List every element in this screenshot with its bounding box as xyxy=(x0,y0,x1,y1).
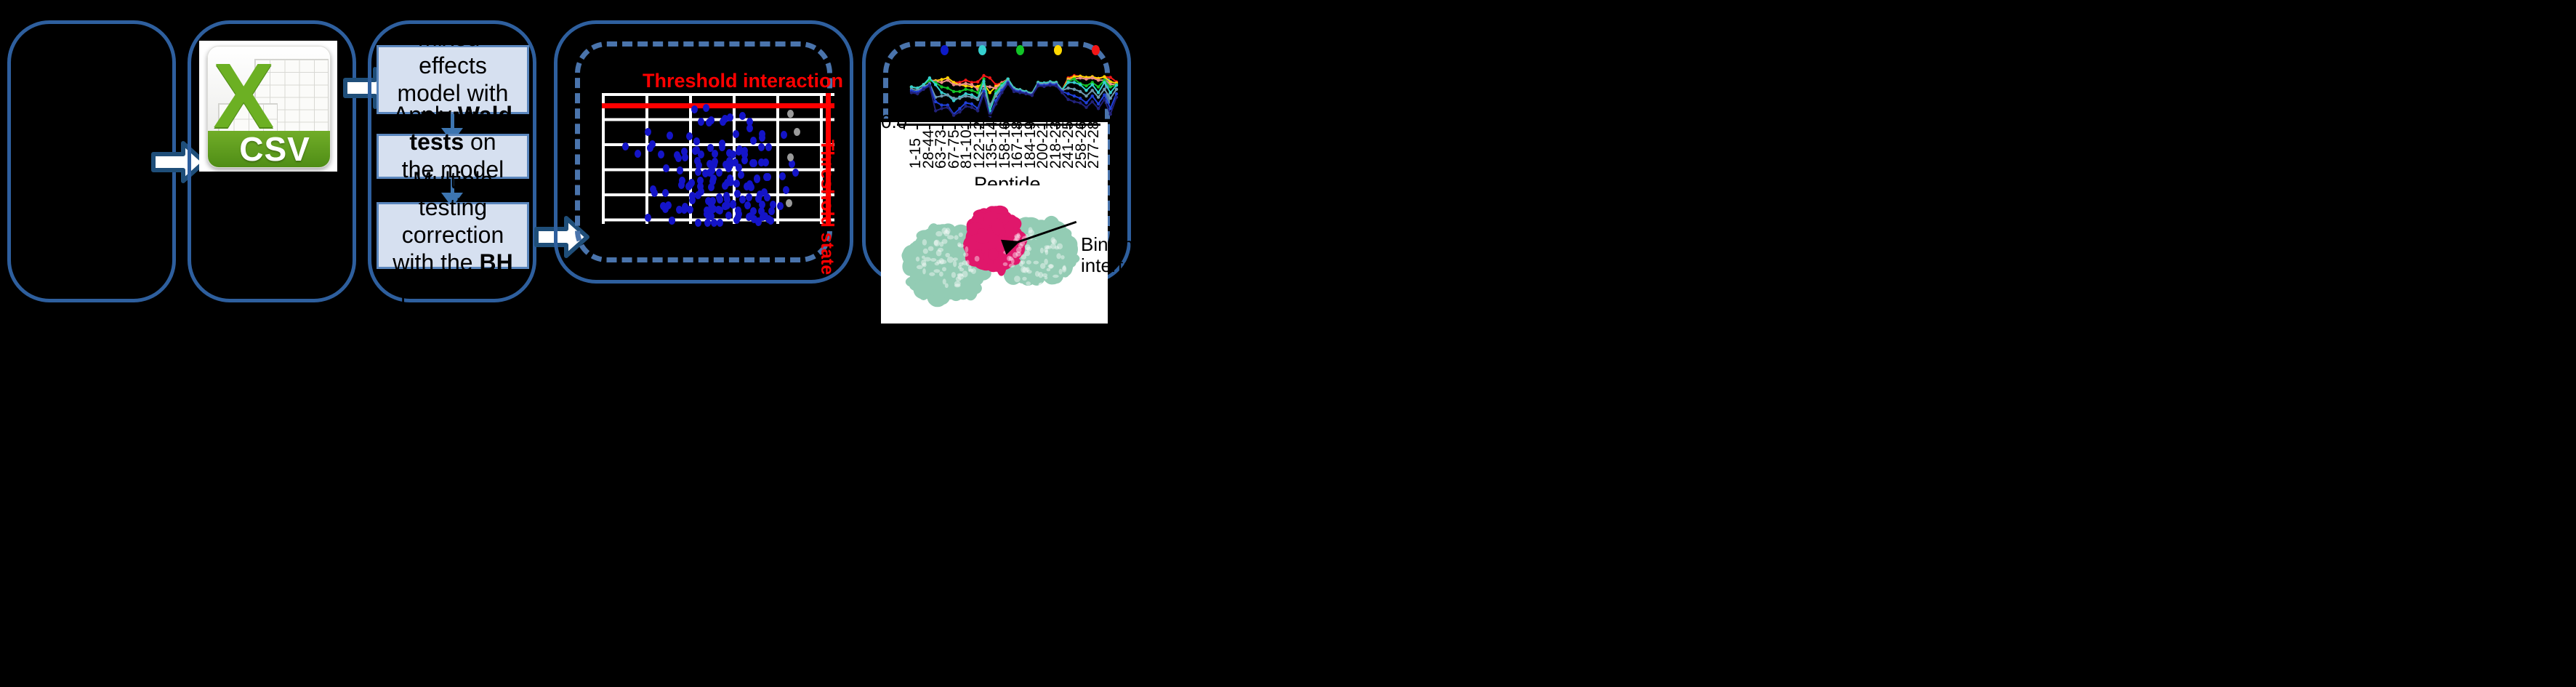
chart-data-point xyxy=(958,111,961,113)
protein-highlight xyxy=(1022,277,1026,281)
protein-interface-atom xyxy=(974,233,991,243)
protein-surface-atom xyxy=(930,274,941,289)
chart-data-point xyxy=(1091,83,1094,86)
chart-data-point xyxy=(940,103,943,106)
legend-dot xyxy=(941,45,949,55)
scatter-point xyxy=(724,179,730,187)
chart-data-point xyxy=(958,83,961,86)
protein-highlight xyxy=(939,272,943,277)
chart-data-point xyxy=(958,107,961,110)
axis-tick-mark xyxy=(1056,124,1058,129)
protein-highlight xyxy=(943,278,946,284)
protein-highlight xyxy=(917,265,923,270)
scatter-point xyxy=(746,180,753,188)
protein-highlight xyxy=(935,231,942,236)
protein-highlight xyxy=(1014,276,1021,282)
chart-data-point xyxy=(952,90,955,93)
scatter-point xyxy=(719,143,725,151)
axis-tick-mark xyxy=(942,124,943,129)
step-multiple-testing-text: Multiple testingcorrectionwith the BH pr… xyxy=(387,167,518,305)
axis-tick-mark xyxy=(1044,124,1045,129)
axis-tick-mark xyxy=(993,124,994,129)
scatter-point xyxy=(663,164,669,172)
chart-data-point xyxy=(1103,88,1106,91)
csv-extension-band: CSV xyxy=(208,131,329,167)
peptide-tick-label: 277-284 xyxy=(1085,113,1103,169)
axis-tick-mark xyxy=(1031,124,1032,129)
scatter-point xyxy=(687,206,693,214)
scatter-point xyxy=(660,202,667,210)
legend-dot xyxy=(1092,45,1100,55)
threshold-interaction-line xyxy=(602,103,834,108)
chart-data-point xyxy=(1084,95,1087,97)
protein-highlight xyxy=(1044,248,1048,253)
chart-data-point xyxy=(1109,91,1112,94)
chart-data-point xyxy=(928,76,931,79)
threshold-state-label: Threshold state xyxy=(816,140,837,275)
chart-data-point xyxy=(1084,84,1087,87)
scatter-point xyxy=(685,182,692,190)
scatter-point xyxy=(744,201,751,209)
scatter-point xyxy=(716,169,723,177)
csv-x-glyph: X xyxy=(213,50,257,108)
chart-data-point xyxy=(1091,100,1094,103)
chart-data-point xyxy=(1079,76,1082,79)
protein-highlight xyxy=(954,281,961,286)
chart-data-point xyxy=(1097,103,1100,105)
chart-data-point xyxy=(1024,92,1027,95)
chart-data-point xyxy=(1109,76,1112,79)
chart-data-point xyxy=(982,92,985,95)
chart-data-point xyxy=(1115,84,1118,87)
protein-highlight xyxy=(1049,264,1053,269)
chart-data-point xyxy=(1109,85,1112,88)
protein-highlight xyxy=(933,269,940,273)
chart-data-point xyxy=(946,79,949,81)
protein-highlight xyxy=(965,246,969,252)
chart-data-point xyxy=(989,91,991,94)
scatter-point xyxy=(717,219,723,227)
scatter-point xyxy=(662,189,669,197)
chart-data-point xyxy=(970,96,973,99)
chart-data-point xyxy=(1091,76,1094,79)
chart-data-point xyxy=(922,88,925,91)
chart-data-point xyxy=(1097,91,1100,94)
chart-data-point xyxy=(1007,82,1010,85)
chart-data-point xyxy=(970,89,973,92)
chart-data-point xyxy=(1037,84,1039,87)
chart-data-point xyxy=(1060,91,1063,94)
scatter-point xyxy=(765,143,772,151)
scatter-point xyxy=(695,219,701,227)
protein-structure-canvas xyxy=(881,185,1108,324)
scatter-point xyxy=(686,132,693,140)
chart-data-point xyxy=(1097,107,1100,110)
protein-highlight xyxy=(1026,281,1031,286)
scatter-point xyxy=(708,183,715,191)
chart-data-point xyxy=(1073,95,1076,97)
scatter-point xyxy=(781,131,787,139)
scatter-point xyxy=(754,175,760,183)
csv-extension-label: CSV xyxy=(239,129,329,168)
protein-highlight xyxy=(1007,256,1012,261)
chart-data-point xyxy=(1073,81,1076,84)
protein-highlight xyxy=(1040,248,1044,254)
chart-data-point xyxy=(934,109,937,112)
binding-interface-line2: interface xyxy=(1081,255,1154,276)
scatter-point xyxy=(703,104,709,112)
scatter-point xyxy=(695,168,701,176)
protein-highlight xyxy=(1039,272,1044,278)
step-multiple-testing-box: Multiple testingcorrectionwith the BH pr… xyxy=(377,202,529,269)
scatter-point xyxy=(712,150,718,158)
protein-highlight xyxy=(958,244,965,248)
chart-data-point xyxy=(952,97,955,100)
protein-highlight xyxy=(953,260,957,267)
threshold-interaction-title: Threshold interaction xyxy=(643,70,843,92)
scatter-point xyxy=(741,150,748,158)
protein-highlight xyxy=(1026,246,1031,251)
protein-highlight xyxy=(1063,265,1066,271)
protein-highlight xyxy=(930,258,936,262)
scatter-point xyxy=(736,164,742,172)
chart-data-point xyxy=(952,113,955,116)
scatter-point xyxy=(746,193,752,201)
chart-data-point xyxy=(1066,92,1069,95)
protein-highlight xyxy=(1034,261,1039,265)
scatter-point xyxy=(762,158,769,166)
scatter-point xyxy=(723,192,730,200)
scatter-point xyxy=(763,173,770,181)
scatter-point xyxy=(792,169,799,177)
protein-highlight xyxy=(1059,269,1063,275)
binding-interface-line1: Binding xyxy=(1081,234,1154,255)
chart-data-point xyxy=(940,85,943,88)
protein-highlight xyxy=(922,239,927,246)
chart-data-point xyxy=(989,76,991,79)
protein-surface-atom xyxy=(1063,239,1078,259)
protein-highlight xyxy=(1045,276,1048,280)
scatter-point xyxy=(779,172,786,180)
scatter-point xyxy=(787,153,794,161)
chart-data-point xyxy=(982,74,985,77)
axis-tick-mark xyxy=(1005,124,1007,129)
legend-dot xyxy=(978,45,986,55)
protein-highlight xyxy=(1040,263,1045,269)
scatter-point xyxy=(658,150,664,158)
chart-data-point xyxy=(1079,90,1082,93)
chart-data-point xyxy=(1031,94,1034,97)
protein-highlight xyxy=(1052,275,1059,278)
csv-icon-body: X CSV xyxy=(207,46,330,168)
peptide-axis-panel: 1-1528-4463-7367-7581-101122-129135-1441… xyxy=(881,122,1108,195)
chart-data-point xyxy=(989,85,991,88)
scatter-point xyxy=(651,189,658,197)
protein-highlight xyxy=(1019,261,1023,267)
chart-data-point xyxy=(958,90,961,93)
chart-data-point xyxy=(1109,97,1112,100)
scatter-point xyxy=(698,118,704,126)
chart-data-point xyxy=(946,93,949,96)
chart-data-point xyxy=(994,103,997,105)
chart-data-point xyxy=(1115,92,1118,95)
chart-data-point xyxy=(1079,83,1082,86)
protein-highlight xyxy=(1011,258,1015,264)
chart-data-point xyxy=(970,106,973,109)
protein-highlight xyxy=(1013,252,1018,258)
chart-data-point xyxy=(928,84,931,87)
legend-dot xyxy=(1054,45,1062,55)
chart-data-point xyxy=(1013,90,1015,93)
chart-data-point xyxy=(964,105,967,108)
scatter-point xyxy=(725,212,732,220)
threshold-scatter-plot xyxy=(602,93,834,224)
scatter-point xyxy=(717,196,723,204)
protein-highlight xyxy=(959,268,964,271)
protein-highlight xyxy=(928,246,934,252)
protein-highlight xyxy=(938,248,943,252)
axis-tick-mark xyxy=(917,124,918,129)
scatter-point xyxy=(645,128,651,136)
protein-surface-atom xyxy=(914,281,932,300)
chart-data-point xyxy=(964,95,967,97)
chart-data-point xyxy=(1079,97,1082,100)
protein-highlight xyxy=(1056,253,1060,259)
protein-highlight xyxy=(963,252,968,257)
scatter-point xyxy=(722,115,728,123)
protein-highlight xyxy=(934,240,941,246)
chart-data-point xyxy=(1103,81,1106,84)
axis-tick-mark xyxy=(1018,124,1020,129)
chart-data-point xyxy=(934,100,937,103)
protein-highlight xyxy=(957,273,964,279)
scatter-point xyxy=(702,169,709,177)
chart-data-point xyxy=(994,95,997,97)
chart-data-point xyxy=(1091,89,1094,92)
chart-data-point xyxy=(940,107,943,110)
protein-highlight xyxy=(959,233,963,237)
chart-data-point xyxy=(1103,75,1106,78)
chart-data-point xyxy=(1084,101,1087,104)
protein-highlight xyxy=(922,268,926,274)
protein-highlight xyxy=(935,262,940,265)
protein-highlight xyxy=(975,256,980,262)
axis-tick-mark xyxy=(929,124,930,129)
axis-tick-mark xyxy=(967,124,969,129)
scatter-point xyxy=(739,196,746,204)
protein-highlight xyxy=(1003,262,1008,266)
chart-data-point xyxy=(946,87,949,89)
chart-data-point xyxy=(910,91,913,94)
chart-data-point xyxy=(940,78,943,81)
chart-data-point xyxy=(1066,98,1069,101)
scatter-point xyxy=(693,137,700,145)
chart-data-point xyxy=(940,81,943,84)
chart-data-point xyxy=(1084,78,1087,81)
csv-file-icon: X CSV xyxy=(199,41,337,172)
chart-data-point xyxy=(976,98,979,101)
scatter-point xyxy=(669,217,675,225)
protein-interface-atom xyxy=(991,218,1004,235)
protein-highlight xyxy=(1060,255,1064,260)
protein-highlight xyxy=(929,272,935,276)
chart-data-point xyxy=(1066,81,1069,84)
scatter-point xyxy=(678,181,685,189)
protein-highlight xyxy=(962,260,968,265)
chart-data-point xyxy=(1115,96,1118,99)
chart-data-point xyxy=(1097,96,1100,99)
binding-interface-label: Binding interface xyxy=(1081,234,1154,276)
chart-data-point xyxy=(982,80,985,83)
axis-tick-mark xyxy=(1069,124,1071,129)
protein-highlight xyxy=(916,257,919,262)
chart-data-point xyxy=(1079,101,1082,104)
chart-data-point xyxy=(1109,113,1112,116)
protein-highlight xyxy=(951,272,956,278)
scatter-point xyxy=(691,105,698,113)
protein-highlight xyxy=(923,249,928,254)
chart-data-point xyxy=(1073,100,1076,103)
chart-data-point xyxy=(940,91,943,94)
protein-highlight xyxy=(924,257,930,262)
chart-data-point xyxy=(964,79,967,81)
protein-highlight xyxy=(1052,239,1057,244)
scatter-point xyxy=(667,132,673,140)
chart-data-point xyxy=(1084,89,1087,92)
protein-highlight xyxy=(942,239,948,244)
protein-highlight xyxy=(1029,227,1033,233)
chart-data-point xyxy=(1097,79,1100,81)
chart-data-point xyxy=(976,80,979,83)
protein-highlight xyxy=(947,257,954,263)
scatter-point xyxy=(786,199,792,207)
chart-data-point xyxy=(1000,91,1003,94)
chart-data-point xyxy=(1103,93,1106,96)
chart-data-point xyxy=(946,106,949,109)
chart-data-point xyxy=(1103,98,1106,101)
protein-highlight xyxy=(954,235,959,240)
scatter-gridlines xyxy=(602,93,834,224)
scatter-point xyxy=(738,171,744,179)
chart-data-point xyxy=(964,101,967,104)
chart-data-point xyxy=(1018,91,1021,94)
protein-interface-atom xyxy=(988,249,999,261)
scatter-point xyxy=(645,214,651,222)
scatter-point xyxy=(730,200,736,208)
scatter-point xyxy=(761,188,768,196)
chart-data-point xyxy=(964,82,967,85)
protein-highlight xyxy=(1021,254,1026,260)
chart-data-point xyxy=(989,103,991,106)
scatter-point xyxy=(733,180,740,188)
protein-highlight xyxy=(968,269,973,273)
scatter-point xyxy=(698,188,704,196)
chart-data-point xyxy=(1097,85,1100,88)
chart-data-point xyxy=(1066,87,1069,89)
chart-data-point xyxy=(1042,85,1045,88)
chart-data-point xyxy=(934,83,937,86)
protein-highlight xyxy=(953,257,958,261)
scatter-point xyxy=(728,160,734,168)
scatter-point xyxy=(765,215,772,223)
scatter-point xyxy=(783,186,789,194)
chart-data-point xyxy=(952,83,955,86)
axis-tick-mark xyxy=(1082,124,1083,129)
chart-legend xyxy=(897,44,1119,65)
chart-data-point xyxy=(970,103,973,105)
protein-highlight xyxy=(942,267,946,271)
chart-data-point xyxy=(958,97,961,100)
chart-data-point xyxy=(1084,106,1087,109)
chart-data-point xyxy=(1073,78,1076,81)
chart-data-point xyxy=(1115,88,1118,91)
scatter-point xyxy=(746,124,753,132)
scatter-point xyxy=(759,201,765,209)
protein-highlight xyxy=(1021,266,1026,273)
axis-tick-mark xyxy=(954,124,956,129)
protein-highlight xyxy=(1039,283,1042,288)
protein-highlight xyxy=(1057,244,1063,249)
legend-dot xyxy=(1016,45,1024,55)
scatter-point xyxy=(712,158,718,166)
chart-data-point xyxy=(1049,84,1052,87)
scatter-point xyxy=(689,192,696,200)
scatter-point xyxy=(722,202,728,210)
diagram-canvas: X CSV Fit a linear mixed-effects model w… xyxy=(0,0,2576,687)
scatter-point xyxy=(674,151,680,159)
protein-highlight xyxy=(1047,268,1051,272)
scatter-point xyxy=(677,166,683,174)
chart-data-point xyxy=(916,92,919,95)
y-axis-tick-label: 0.0 xyxy=(881,111,907,133)
chart-data-point xyxy=(1073,88,1076,91)
scatter-point xyxy=(708,116,715,124)
protein-highlight xyxy=(941,228,947,234)
chart-data-point xyxy=(940,95,943,97)
chart-data-point xyxy=(1055,84,1058,87)
protein-highlight xyxy=(1026,260,1031,265)
scatter-point xyxy=(755,218,762,226)
axis-tick-mark xyxy=(980,124,981,129)
protein-highlight xyxy=(1026,267,1030,272)
chart-data-point xyxy=(1091,95,1094,97)
scatter-point xyxy=(758,143,765,151)
protein-highlight xyxy=(1009,264,1015,268)
chart-data-point xyxy=(970,83,973,86)
chart-data-point xyxy=(964,88,967,91)
